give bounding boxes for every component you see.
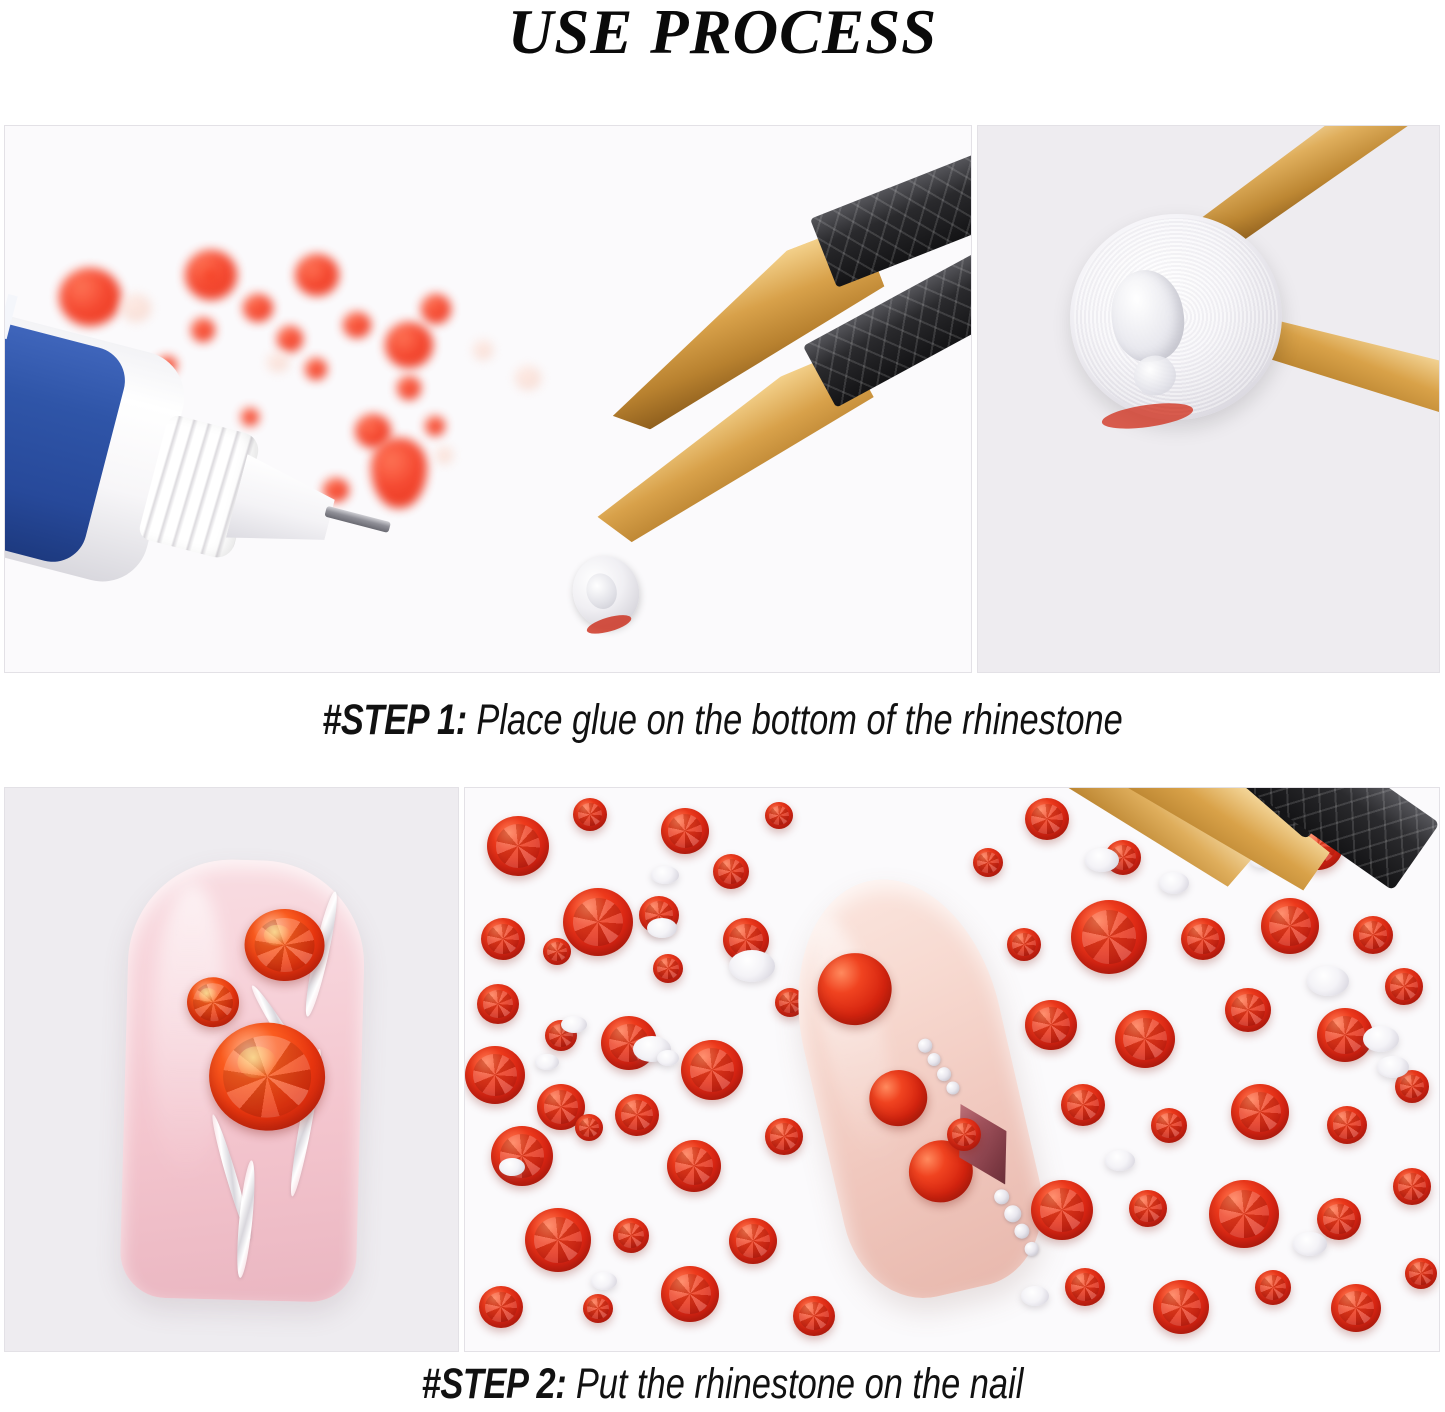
rhinestone xyxy=(661,1266,719,1322)
nail-highlight xyxy=(798,911,911,1168)
rhinestone xyxy=(1031,1180,1093,1240)
rhinestone xyxy=(1071,900,1147,974)
rhinestone-red-edge xyxy=(1100,399,1194,434)
blurred-rhinestone xyxy=(191,318,215,342)
rhinestone-application-photo xyxy=(464,787,1440,1352)
rhinestone xyxy=(575,1114,603,1141)
blurred-rhinestone xyxy=(425,416,445,436)
step-2-image-row xyxy=(4,787,1441,1352)
rhinestone xyxy=(1129,1190,1167,1227)
rhinestone-foil-back xyxy=(1105,1150,1135,1171)
rhinestone-foil-back xyxy=(535,1054,559,1070)
rhinestone-red-edge xyxy=(585,611,633,637)
rhinestone-foil-back xyxy=(1377,1056,1409,1078)
rhinestone xyxy=(1385,968,1423,1005)
step-2-text: Put the rhinestone on the nail xyxy=(566,1360,1023,1408)
glue-bottle-and-tweezers-photo: RH GL xyxy=(4,125,972,673)
rhinestone-foil-back xyxy=(1307,966,1349,996)
rhinestone-foil-back xyxy=(651,866,679,884)
silver-bead xyxy=(917,1037,934,1054)
rhinestone xyxy=(1353,916,1393,954)
rhinestone xyxy=(1405,1258,1437,1289)
glue-bottle-label: RH GL xyxy=(4,289,132,569)
rhinestone xyxy=(479,1286,523,1328)
rhinestone xyxy=(729,1218,777,1264)
rhinestone xyxy=(525,1208,591,1272)
rhinestone-on-nail xyxy=(186,977,239,1028)
blurred-rhinestone xyxy=(295,254,339,296)
decorated-nail-photo xyxy=(4,787,459,1352)
rhinestone-foil-back xyxy=(657,1050,679,1066)
rhinestone xyxy=(615,1094,659,1136)
rhinestone xyxy=(1331,1284,1381,1332)
rhinestone xyxy=(1007,928,1041,961)
nail-being-decorated xyxy=(770,859,1059,1313)
rhinestone xyxy=(1025,798,1069,840)
blurred-rhinestone xyxy=(371,438,427,508)
rhinestone xyxy=(765,1118,803,1155)
rhinestone xyxy=(487,816,549,876)
rhinestone xyxy=(481,918,525,960)
rhinestone xyxy=(1327,1106,1367,1144)
rhinestone xyxy=(1393,1168,1431,1205)
rhinestone xyxy=(583,1294,613,1323)
blurred-rhinestone xyxy=(121,294,151,322)
rhinestone xyxy=(613,1218,649,1253)
silver-bead xyxy=(1013,1222,1031,1240)
rhinestone xyxy=(1025,1000,1077,1050)
rhinestone xyxy=(765,802,793,829)
step-1-text: Place glue on the bottom of the rhinesto… xyxy=(467,696,1123,744)
rhinestone-foil-back xyxy=(1057,200,1296,433)
blurred-rhinestone xyxy=(201,266,217,282)
rhinestone xyxy=(1225,988,1271,1032)
rhinestone xyxy=(681,1040,743,1100)
step-2-caption: #STEP 2: Put the rhinestone on the nail xyxy=(145,1358,1301,1410)
press-on-nail xyxy=(119,857,366,1303)
step-1-caption: #STEP 1: Place glue on the bottom of the… xyxy=(145,694,1301,746)
silver-bead xyxy=(1023,1241,1040,1258)
rhinestone xyxy=(947,1118,981,1151)
blurred-rhinestone xyxy=(473,340,493,360)
rhinestone xyxy=(1255,1270,1291,1305)
blurred-rhinestone xyxy=(277,326,303,352)
silver-bead xyxy=(993,1188,1011,1206)
blurred-rhinestone xyxy=(421,294,451,324)
step-2-label: #STEP 2: xyxy=(422,1360,567,1408)
rhinestone xyxy=(563,888,633,956)
step-1-label: #STEP 1: xyxy=(322,696,467,744)
rhinestone xyxy=(491,1126,553,1186)
rhinestone-foil-back xyxy=(1363,1026,1399,1052)
blurred-rhinestone xyxy=(305,358,327,380)
chrome-streak xyxy=(234,1160,258,1279)
silver-bead xyxy=(936,1066,953,1083)
step-1-image-row: RH GL xyxy=(4,125,1441,673)
glue-droplet xyxy=(582,570,621,613)
page-title: USE PROCESS xyxy=(0,0,1445,68)
rhinestone xyxy=(1065,1268,1105,1306)
glue-bottle-metal-tip xyxy=(324,506,391,533)
blurred-rhinestone xyxy=(515,366,541,390)
blurred-rhinestone xyxy=(435,446,453,464)
rhinestone-foil-back xyxy=(1085,848,1119,872)
silver-bead xyxy=(1003,1204,1023,1224)
rhinestone xyxy=(1181,918,1225,960)
rhinestone-foil-back xyxy=(1159,872,1189,894)
rhinestone xyxy=(653,954,683,983)
blurred-rhinestone xyxy=(267,352,289,372)
rhinestone xyxy=(1209,1180,1279,1248)
silver-bead xyxy=(926,1052,942,1068)
rhinestone-foil-back xyxy=(647,918,677,938)
use-process-infographic: USE PROCESS xyxy=(0,0,1445,1412)
rhinestone xyxy=(667,1140,721,1192)
rhinestone-foil-back xyxy=(729,950,775,982)
rhinestone-foil-back xyxy=(1293,1232,1327,1256)
glue-label-line-2: GL xyxy=(4,273,37,417)
blurred-rhinestone xyxy=(59,268,121,326)
rhinestone xyxy=(477,984,519,1024)
blurred-rhinestone xyxy=(243,294,273,322)
rhinestone xyxy=(465,1046,525,1104)
rhinestone xyxy=(1231,1084,1289,1140)
rhinestone xyxy=(1317,1198,1361,1240)
silver-bead xyxy=(945,1080,961,1096)
rhinestone xyxy=(793,1296,835,1336)
rhinestone-foil-back xyxy=(1021,1286,1049,1306)
rhinestone xyxy=(1061,1084,1105,1126)
rhinestone xyxy=(713,854,749,889)
rhinestone-foil-back xyxy=(561,1016,587,1033)
rhinestone xyxy=(1153,1280,1209,1334)
rhinestone xyxy=(1151,1108,1187,1143)
glue-bottle-label-text: RH GL xyxy=(4,248,41,590)
rhinestone-closeup-photo xyxy=(977,125,1440,673)
rhinestone xyxy=(661,808,709,854)
rhinestone xyxy=(1115,1010,1175,1068)
rhinestone-foil-back xyxy=(499,1158,525,1176)
rhinestone xyxy=(973,848,1003,877)
blurred-rhinestone xyxy=(397,376,421,400)
rhinestone xyxy=(573,798,607,831)
blurred-rhinestone xyxy=(385,322,433,368)
rhinestone xyxy=(543,938,571,965)
rhinestone-foil-back xyxy=(591,1272,617,1290)
blurred-rhinestone xyxy=(343,312,371,338)
rhinestone xyxy=(1261,898,1319,954)
